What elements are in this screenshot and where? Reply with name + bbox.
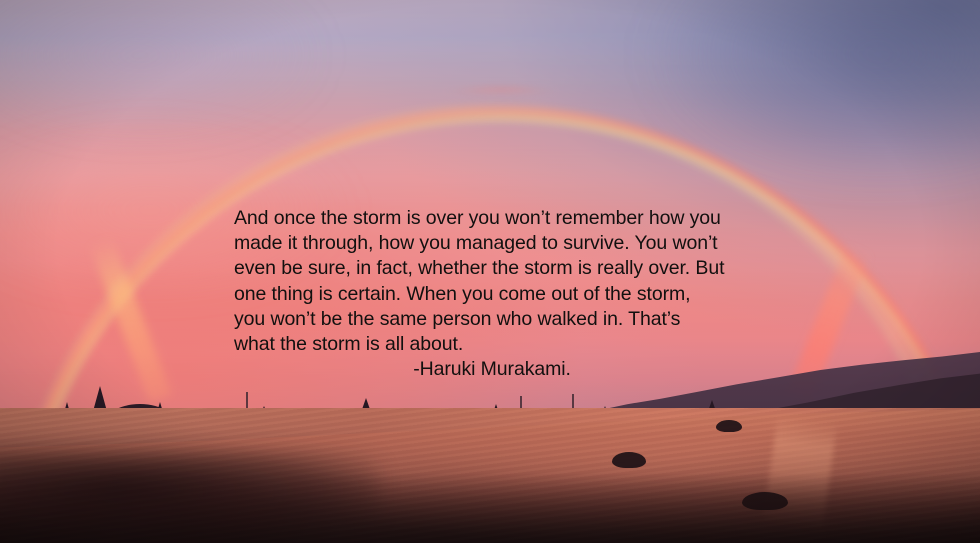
photo-scene: And once the storm is over you won’t rem…: [0, 0, 980, 543]
field-bush: [612, 452, 646, 468]
field-foreground-shadow: [0, 473, 980, 543]
field-bush: [716, 420, 742, 432]
quote-text: And once the storm is over you won’t rem…: [234, 206, 726, 357]
quote-overlay: And once the storm is over you won’t rem…: [234, 206, 726, 382]
quote-attribution: -Haruki Murakami.: [234, 357, 726, 382]
